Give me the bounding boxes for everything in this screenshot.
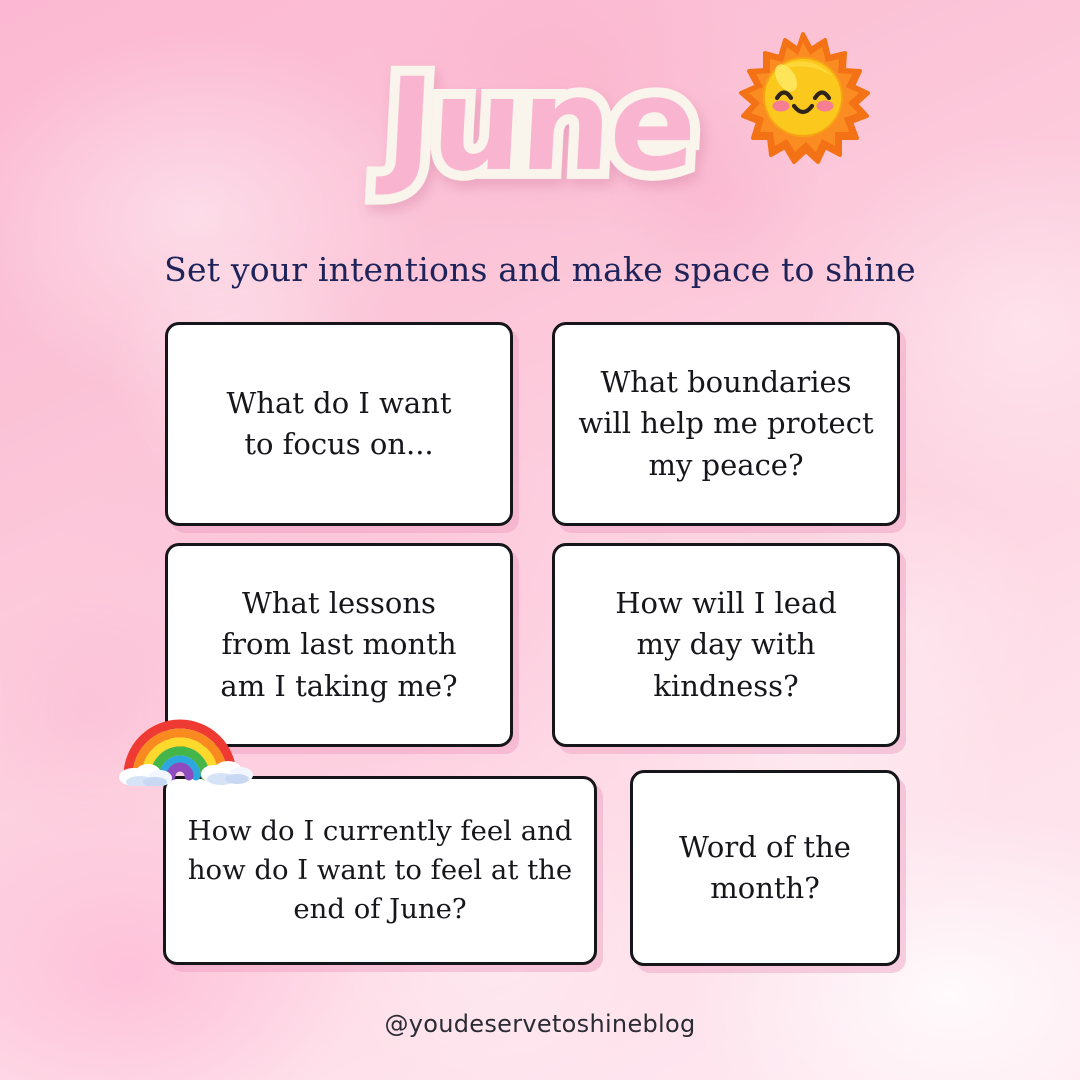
prompt-card[interactable]: How will I lead my day with kindness? (552, 543, 900, 747)
prompt-card[interactable]: Word of the month? (630, 770, 900, 966)
prompt-card-text: How will I lead my day with kindness? (615, 583, 837, 707)
prompt-card-text: What boundaries will help me protect my … (578, 362, 873, 486)
prompt-card-text: What lessons from last month am I taking… (220, 583, 457, 707)
prompt-card-text: Word of the month? (679, 827, 851, 909)
social-handle[interactable]: @youdeservetoshineblog (0, 1010, 1080, 1038)
prompt-card[interactable]: How do I currently feel and how do I wan… (163, 776, 597, 965)
rainbow-icon (118, 694, 254, 786)
poster-canvas: June Set your intentions and make space … (0, 0, 1080, 1080)
prompt-card[interactable]: What do I want to focus on... (165, 322, 513, 526)
prompt-card-text: How do I currently feel and how do I wan… (188, 812, 573, 929)
prompt-card-text: What do I want to focus on... (226, 383, 451, 465)
prompt-card[interactable]: What boundaries will help me protect my … (552, 322, 900, 526)
prompt-card-grid: What do I want to focus on... What bound… (0, 0, 1080, 1080)
